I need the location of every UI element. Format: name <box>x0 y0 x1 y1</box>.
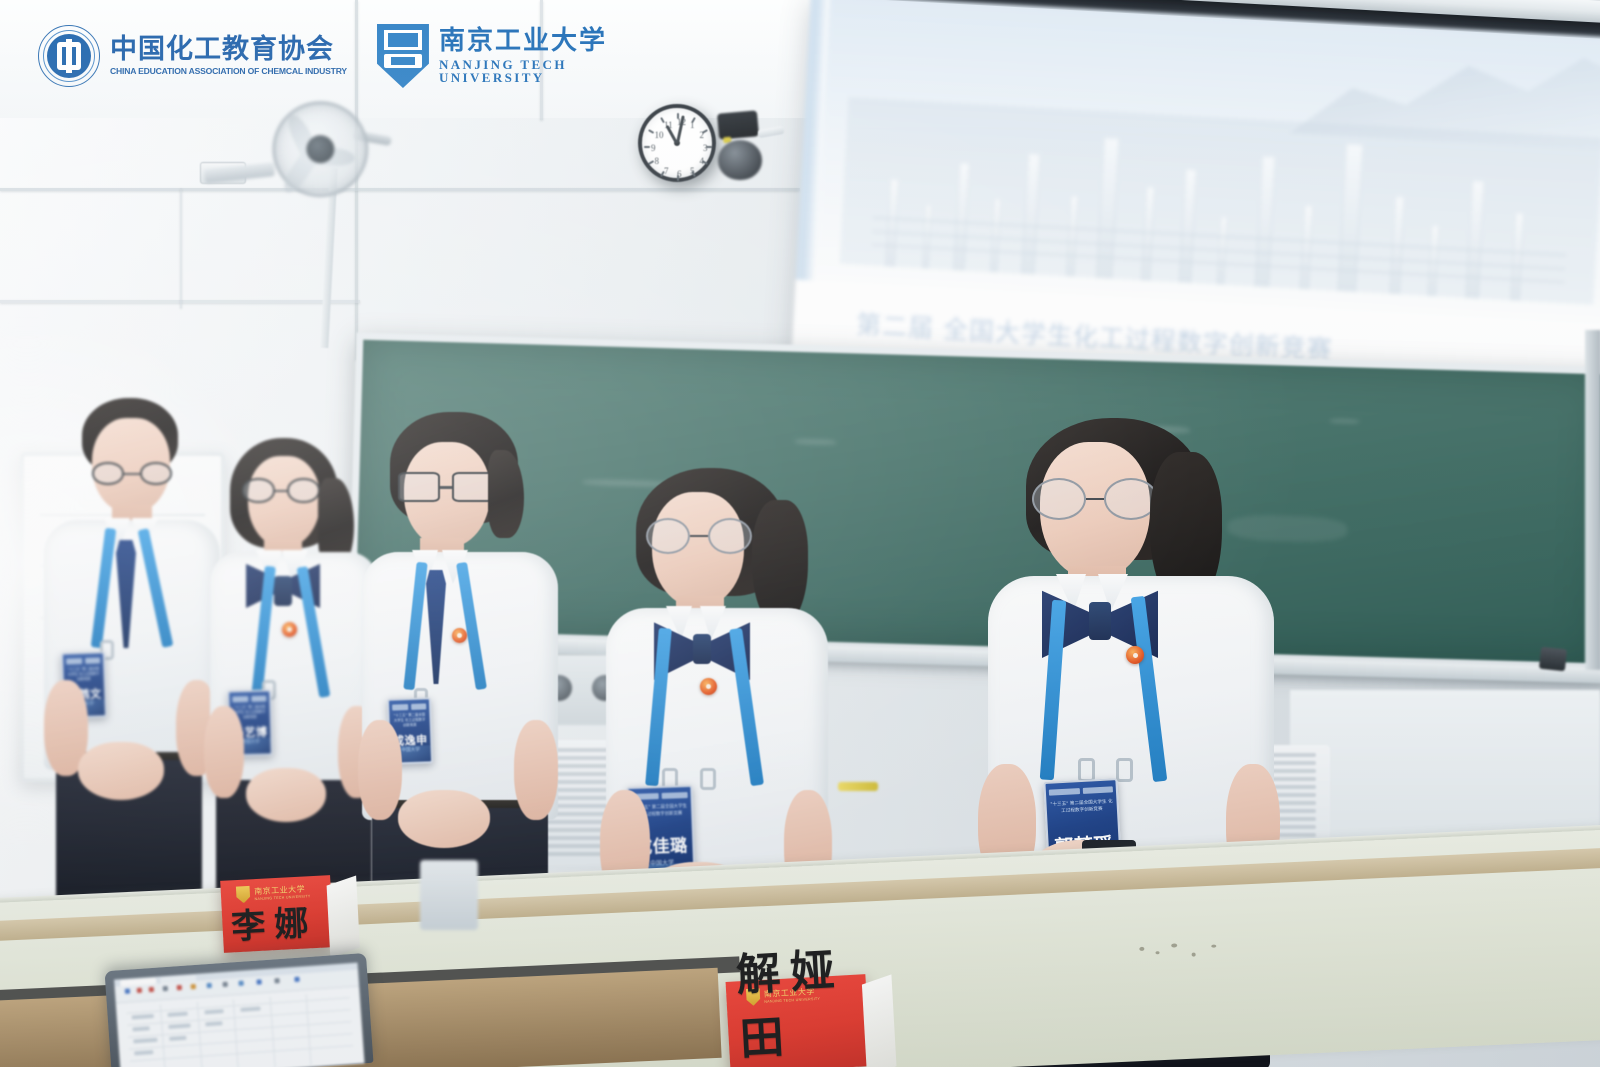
university-name-cn: 南京工业大学 <box>439 28 607 54</box>
clock-tick <box>644 146 650 148</box>
association-seal-icon <box>38 25 100 87</box>
arm <box>514 720 558 820</box>
overlay-logo-bar: 中国化工教育协会 CHINA EDUCATION ASSOCIATION OF … <box>38 24 607 88</box>
clasped-hands <box>246 768 326 822</box>
clock-numeral: 5 <box>690 166 695 176</box>
university-logo-overlay: 南京工业大学 NANJING TECH UNIVERSITY <box>377 24 607 88</box>
wall-seam <box>180 188 182 308</box>
laptop-icon <box>104 953 373 1067</box>
board-clip <box>1539 647 1567 672</box>
lapel-pin-icon <box>1126 646 1144 664</box>
university-crest-icon <box>377 24 429 88</box>
clock-numeral: 3 <box>703 143 708 153</box>
badge-header: "十三五" 第二届全国大学生 化工过程数字创新竞赛 <box>392 712 427 728</box>
arm <box>204 706 244 798</box>
university-name-en-2: UNIVERSITY <box>439 71 607 84</box>
name-card-text: 解娅田 <box>734 933 870 1067</box>
laptop-screen <box>114 963 364 1067</box>
table-name-card-icon: 南京工业大学 NANJING TECH UNIVERSITY 李娜 <box>220 875 334 953</box>
glasses-icon <box>242 478 320 504</box>
clock-numeral: 10 <box>654 130 663 140</box>
name-card-text: 李娜 <box>230 895 318 948</box>
clock-numeral: 6 <box>677 169 682 179</box>
clock-numeral: 4 <box>700 156 705 166</box>
glasses-icon <box>92 462 172 486</box>
clock-tick <box>648 160 654 165</box>
marker <box>838 782 878 791</box>
board-right-frame <box>1585 330 1600 670</box>
photo-scene: 121234567891011 <box>0 0 1600 1067</box>
refinery-illustration <box>814 0 1600 336</box>
association-logo: 中国化工教育协会 CHINA EDUCATION ASSOCIATION OF … <box>38 25 347 87</box>
clasped-hands <box>398 790 490 848</box>
association-name-cn: 中国化工教育协会 <box>110 36 347 64</box>
table-name-card-icon: 南京工业大学 NANJING TECH UNIVERSITY 解娅田 <box>726 974 871 1067</box>
clasped-hands <box>78 742 164 800</box>
clock-numeral: 9 <box>651 143 656 153</box>
wall-clock-icon: 121234567891011 <box>638 104 716 182</box>
clock-numeral: 7 <box>664 166 669 176</box>
clock-numeral: 1 <box>690 120 695 130</box>
badge-header: "十三五" 第二届全国大学生 化工过程数字创新竞赛 <box>1049 798 1114 815</box>
wall-seam <box>0 188 800 191</box>
clock-numeral: 2 <box>700 130 705 140</box>
slide-banner-image <box>814 0 1600 336</box>
clock-numeral: 8 <box>654 156 659 166</box>
dome-camera-icon <box>718 140 762 180</box>
glasses-icon <box>1032 478 1158 522</box>
glasses-icon <box>646 518 752 556</box>
clock-tick <box>648 129 654 134</box>
association-name-en: CHINA EDUCATION ASSOCIATION OF CHEMCAL I… <box>110 67 347 76</box>
lapel-pin-icon <box>282 622 297 637</box>
wall-fan-icon <box>249 88 396 221</box>
arm <box>358 720 402 820</box>
badge-clip <box>700 768 716 790</box>
lapel-pin-icon <box>700 678 717 695</box>
lapel-pin-icon <box>452 628 467 643</box>
glasses-icon <box>398 472 494 504</box>
badge-clip <box>1116 758 1133 782</box>
wall-speaker-icon <box>717 110 759 139</box>
chair-back <box>420 860 478 930</box>
